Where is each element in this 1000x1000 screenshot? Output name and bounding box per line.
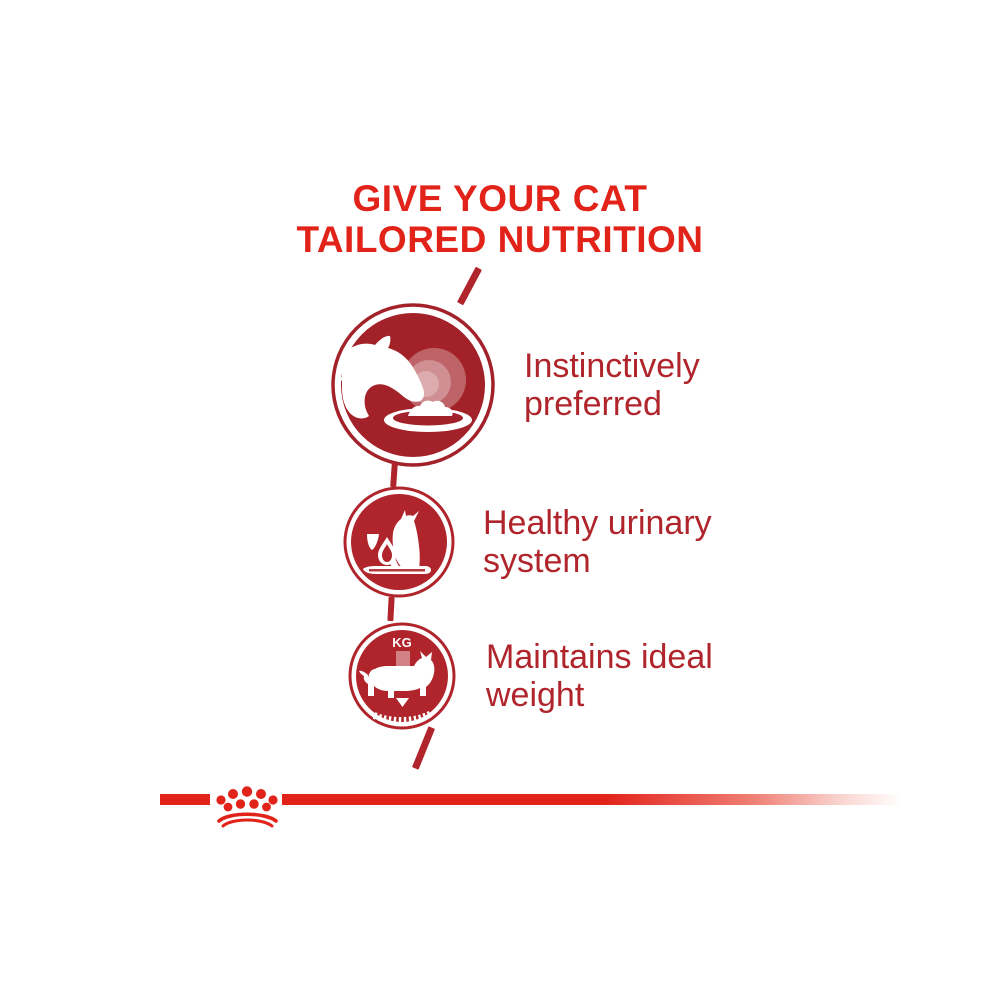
benefit-badge-1 <box>330 302 496 468</box>
kg-unit-text: KG <box>392 635 412 650</box>
footer-rule-right <box>282 794 902 805</box>
connector-dash-2-3 <box>387 597 394 621</box>
cat-eating-from-bowl-icon <box>330 302 496 468</box>
cat-water-droplet-icon <box>343 486 455 598</box>
headline-line-1: GIVE YOUR CAT <box>0 178 1000 219</box>
benefit-badge-2 <box>343 486 455 598</box>
footer-rule-left <box>160 794 210 805</box>
headline-line-2: TAILORED NUTRITION <box>0 219 1000 260</box>
benefit-label-3: Maintains ideal weight <box>486 638 713 714</box>
cat-on-weighing-scale-icon: KG <box>348 622 456 730</box>
benefit-label-2: Healthy urinary system <box>483 504 712 580</box>
benefit-row-instinctively-preferred: Instinctively preferred <box>330 302 700 468</box>
footer-divider <box>0 783 1000 833</box>
benefit-badge-3: KG <box>348 622 456 730</box>
benefit-row-healthy-urinary-system: Healthy urinary system <box>343 486 712 598</box>
poster-canvas: GIVE YOUR CAT TAILORED NUTRITION <box>0 0 1000 1000</box>
connector-dash-bottom <box>412 726 435 769</box>
page-title: GIVE YOUR CAT TAILORED NUTRITION <box>0 178 1000 261</box>
benefit-row-maintains-ideal-weight: KG <box>348 622 713 730</box>
benefit-label-1: Instinctively preferred <box>524 347 700 423</box>
connector-dash-1-2 <box>390 463 398 487</box>
royal-canin-crown-logo <box>213 783 283 833</box>
connector-dash-top <box>457 267 482 306</box>
